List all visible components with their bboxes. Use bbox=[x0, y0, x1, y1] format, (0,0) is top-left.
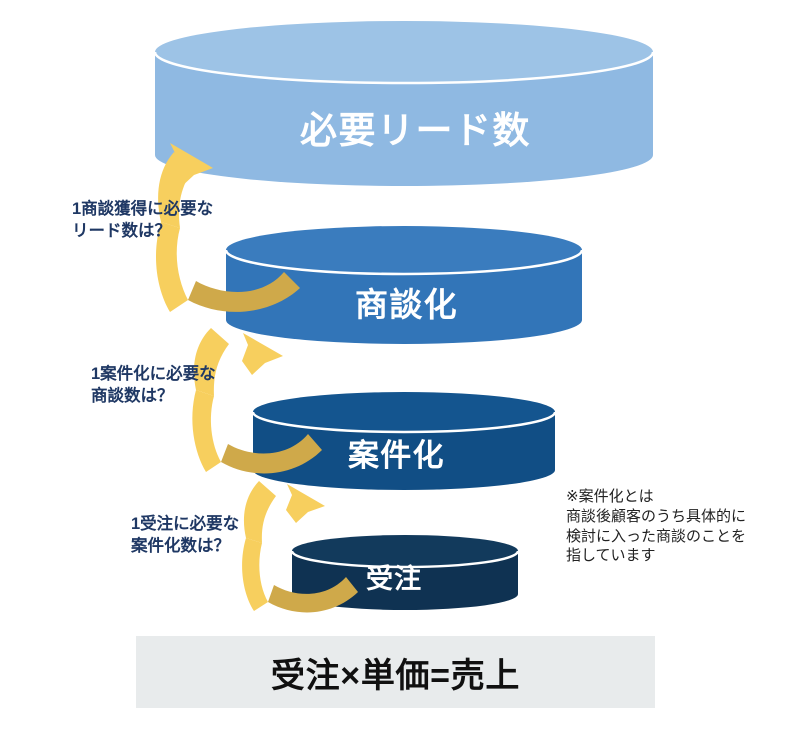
question-1-line-1: 1商談獲得に必要な bbox=[72, 198, 213, 220]
question-3-line-2: 案件化数は？ bbox=[131, 535, 239, 557]
question-1-line-2: リード数は？ bbox=[72, 220, 213, 242]
formula-bar: 受注×単価=売上 bbox=[136, 636, 655, 708]
arrow-3-shaft bbox=[244, 481, 276, 543]
arrow-3-curve bbox=[242, 538, 268, 611]
arrow-3-head bbox=[286, 484, 325, 523]
question-2-line-2: 商談数は？ bbox=[91, 385, 216, 407]
arrow-2-head bbox=[242, 333, 283, 375]
footnote-line-3: 検討に入った商談のことを bbox=[566, 527, 746, 547]
footnote-anken-definition: ※案件化とは 商談後顧客のうち具体的に 検討に入った商談のことを 指しています bbox=[566, 487, 746, 566]
question-2-line-1: 1案件化に必要な bbox=[91, 363, 216, 385]
cylinder-lead bbox=[155, 21, 653, 186]
cylinder-anken bbox=[253, 392, 555, 490]
footnote-line-4: 指しています bbox=[566, 546, 746, 566]
formula-text: 受注×単価=売上 bbox=[271, 648, 520, 697]
footnote-line-2: 商談後顧客のうち具体的に bbox=[566, 507, 746, 527]
question-label-shodan: 1案件化に必要な 商談数は？ bbox=[91, 363, 216, 408]
question-3-line-1: 1受注に必要な bbox=[131, 513, 239, 535]
question-label-anken: 1受注に必要な 案件化数は？ bbox=[131, 513, 239, 558]
funnel-diagram: 必要リード数 商談化 案件化 受注 1商談獲得に必要な リード数は？ 1案件化に… bbox=[0, 0, 794, 742]
footnote-line-1: ※案件化とは bbox=[566, 487, 746, 507]
question-label-lead: 1商談獲得に必要な リード数は？ bbox=[72, 198, 213, 243]
